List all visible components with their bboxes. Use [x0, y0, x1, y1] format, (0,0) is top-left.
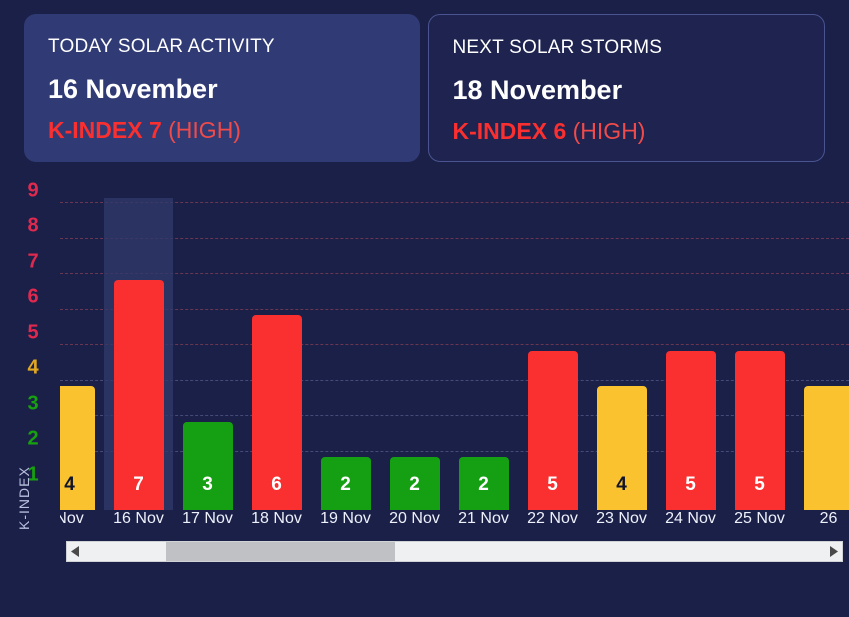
bar-value-label: 4	[597, 474, 647, 496]
x-axis-tick: 25 Nov	[725, 510, 794, 528]
next-solar-storms-card[interactable]: NEXT SOLAR STORMS 18 November K-INDEX 6 …	[428, 14, 826, 162]
bar[interactable]: 7	[114, 280, 164, 511]
bar[interactable]: 2	[459, 457, 509, 510]
x-axis-tick: 21 Nov	[449, 510, 518, 528]
x-axis-tick: Nov	[60, 510, 104, 528]
bar[interactable]: 3	[183, 422, 233, 511]
y-axis: 987654321	[18, 204, 52, 494]
bar[interactable]: 5	[666, 351, 716, 511]
x-axis-tick: 19 Nov	[311, 510, 380, 528]
x-axis: Nov16 Nov17 Nov18 Nov19 Nov20 Nov21 Nov2…	[60, 510, 849, 538]
x-axis-tick: 26	[794, 510, 849, 528]
card-title: TODAY SOLAR ACTIVITY	[48, 36, 396, 58]
y-axis-title: K-INDEX	[16, 466, 32, 530]
x-axis-tick: 23 Nov	[587, 510, 656, 528]
bar-value-label: 5	[666, 474, 716, 496]
x-axis-tick: 18 Nov	[242, 510, 311, 528]
k-index-value: K-INDEX 7	[48, 117, 162, 143]
chart-plot-area[interactable]: 47362225455	[60, 198, 849, 510]
card-title: NEXT SOLAR STORMS	[453, 37, 801, 59]
bar-value-label: 2	[321, 474, 371, 496]
card-date: 18 November	[453, 75, 801, 106]
bar-value-label: 7	[114, 474, 164, 496]
k-index-value: K-INDEX 6	[453, 118, 567, 144]
y-axis-tick: 6	[18, 286, 48, 309]
bar[interactable]: 2	[321, 457, 371, 510]
k-index-level: (HIGH)	[573, 118, 646, 144]
bar-series: 47362225455	[60, 198, 849, 510]
scrollbar-thumb[interactable]	[166, 542, 396, 561]
x-axis-tick: 16 Nov	[104, 510, 173, 528]
x-axis-tick: 24 Nov	[656, 510, 725, 528]
bar-value-label: 2	[390, 474, 440, 496]
bar[interactable]: 2	[390, 457, 440, 510]
x-axis-tick: 17 Nov	[173, 510, 242, 528]
scrollbar-track[interactable]	[84, 542, 825, 561]
y-axis-tick: 4	[18, 357, 48, 380]
today-solar-activity-card[interactable]: TODAY SOLAR ACTIVITY 16 November K-INDEX…	[24, 14, 420, 162]
bar-value-label: 5	[528, 474, 578, 496]
bar-value-label: 6	[252, 474, 302, 496]
y-axis-tick: 3	[18, 392, 48, 415]
card-k-index: K-INDEX 7 (HIGH)	[48, 117, 396, 144]
card-date: 16 November	[48, 74, 396, 105]
card-k-index: K-INDEX 6 (HIGH)	[453, 118, 801, 145]
bar-value-label: 2	[459, 474, 509, 496]
y-axis-tick: 9	[18, 179, 48, 202]
bar[interactable]: 4	[597, 386, 647, 510]
bar-value-label: 3	[183, 474, 233, 496]
bar-value-label: 4	[60, 474, 95, 496]
chart-horizontal-scrollbar[interactable]	[66, 541, 843, 562]
bar[interactable]: 4	[60, 386, 95, 510]
summary-cards: TODAY SOLAR ACTIVITY 16 November K-INDEX…	[24, 14, 825, 162]
x-axis-tick: 22 Nov	[518, 510, 587, 528]
scroll-left-arrow-icon[interactable]	[67, 542, 84, 561]
bar[interactable]	[804, 386, 849, 510]
bar[interactable]: 5	[735, 351, 785, 511]
y-axis-tick: 2	[18, 428, 48, 451]
y-axis-tick: 8	[18, 215, 48, 238]
bar[interactable]: 6	[252, 315, 302, 510]
k-index-level: (HIGH)	[168, 117, 241, 143]
y-axis-tick: 7	[18, 250, 48, 273]
x-axis-tick: 20 Nov	[380, 510, 449, 528]
scroll-right-arrow-icon[interactable]	[825, 542, 842, 561]
solar-activity-page: TODAY SOLAR ACTIVITY 16 November K-INDEX…	[0, 0, 849, 617]
bar[interactable]: 5	[528, 351, 578, 511]
y-axis-tick: 5	[18, 321, 48, 344]
bar-value-label: 5	[735, 474, 785, 496]
